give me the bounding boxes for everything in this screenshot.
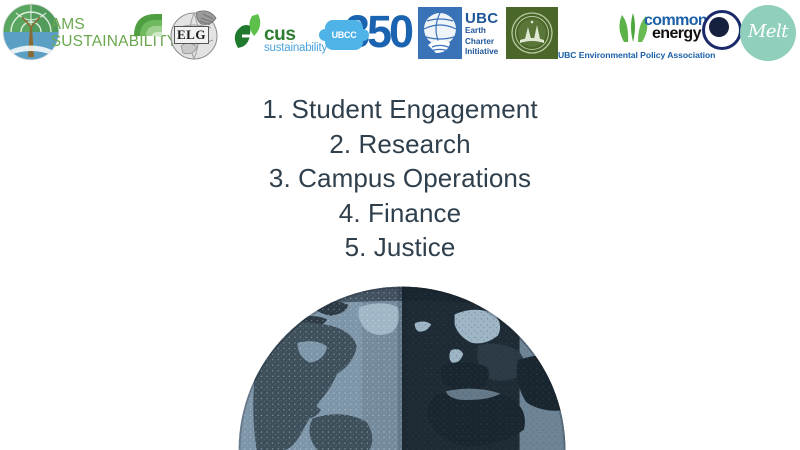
partner-logo-bar: AMS SUSTAINABILITY ELG cus bbox=[0, 0, 800, 68]
earth-charter-square bbox=[418, 7, 462, 59]
ubcc-badge: UBCC bbox=[325, 20, 363, 50]
common-energy-globe-icon bbox=[702, 10, 742, 50]
list-item: 5. Justice bbox=[0, 230, 800, 265]
priority-list: 1. Student Engagement 2. Research 3. Cam… bbox=[0, 92, 800, 265]
ecl-line-3: Initiative bbox=[465, 47, 498, 58]
list-item: 1. Student Engagement bbox=[0, 92, 800, 127]
list-item: 4. Finance bbox=[0, 196, 800, 231]
ecl-line-2: Charter bbox=[465, 37, 498, 48]
slide-root: { "slide": { "background_color": "#fffff… bbox=[0, 0, 800, 450]
forest-seal-icon bbox=[506, 7, 558, 59]
elg-wordmark: ELG bbox=[174, 26, 209, 44]
earth-globe-svg bbox=[137, 286, 667, 450]
elg-logo: ELG bbox=[167, 6, 221, 62]
common-energy-globe-inner bbox=[709, 17, 729, 37]
earth-globe-graphic bbox=[137, 286, 667, 450]
ams-sustainability-logo: AMS SUSTAINABILITY bbox=[62, 12, 166, 54]
cus-leaves-icon bbox=[228, 12, 268, 56]
earth-charter-globe-icon bbox=[418, 7, 462, 59]
melt-wordmark: Melt bbox=[740, 21, 796, 42]
cus-sub-wordmark: sustainability bbox=[264, 42, 327, 54]
ubcc-350-logo: 350 UBCC bbox=[325, 6, 411, 60]
cus-sustainability-logo: cus sustainability bbox=[228, 10, 324, 58]
earth-charter-initiative-lines: Earth Charter Initiative bbox=[465, 26, 498, 58]
melt-logo: Melt bbox=[740, 5, 796, 61]
green-seal-square bbox=[506, 7, 558, 59]
ubc-wordmark: UBC bbox=[465, 10, 498, 27]
common-energy-logo: common energy bbox=[644, 10, 740, 52]
ecl-line-1: Earth bbox=[465, 26, 498, 37]
list-item: 2. Research bbox=[0, 127, 800, 162]
green-seal-logo bbox=[506, 7, 558, 59]
ubc-earth-charter-initiative-logo: UBC Earth Charter Initiative bbox=[418, 7, 506, 61]
list-item: 3. Campus Operations bbox=[0, 161, 800, 196]
ams-leaf-icon bbox=[132, 12, 168, 38]
energy-word: energy bbox=[652, 25, 701, 43]
